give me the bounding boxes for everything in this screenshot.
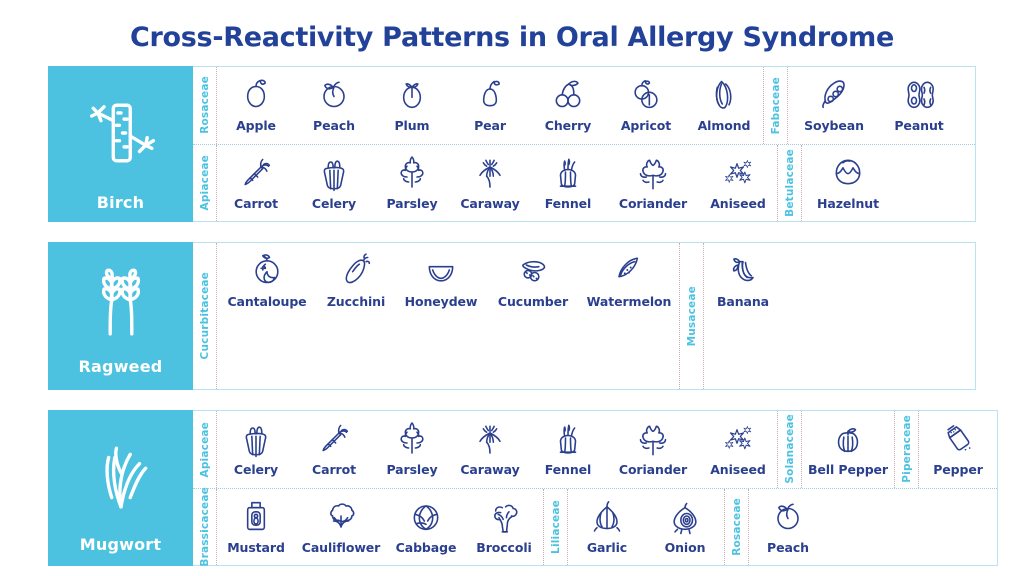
family-group-apiaceae: ApiaceaeCeleryCarrotParsleyCarawayFennel…	[193, 411, 777, 488]
fennel-icon	[548, 151, 588, 193]
caraway-icon	[470, 151, 510, 193]
cucumber-icon	[513, 249, 553, 291]
food-item[interactable]: Carrot	[217, 151, 295, 211]
food-item-label: Fennel	[545, 196, 591, 211]
family-group-apiaceae: ApiaceaeCarrotCeleryParsleyCarawayFennel…	[193, 145, 777, 222]
food-item-label: Garlic	[587, 540, 627, 555]
food-item-label: Aniseed	[710, 462, 766, 477]
section-ragweed: RagweedCucurbitaceaeCantaloupeZucchiniHo…	[48, 242, 976, 390]
food-item-label: Apricot	[621, 118, 671, 133]
food-item[interactable]: Parsley	[373, 417, 451, 477]
food-item-label: Fennel	[545, 462, 591, 477]
food-item-label: Hazelnut	[817, 196, 879, 211]
family-label: Apiaceae	[193, 145, 217, 222]
birch-tree-icon	[48, 66, 193, 193]
family-group-brassicaceae: BrassicaceaeMustardCauliflowerCabbageBro…	[193, 489, 543, 566]
row-filler	[958, 67, 975, 144]
food-grid: CucurbitaceaeCantaloupeZucchiniHoneydewC…	[193, 242, 976, 390]
parsley-icon	[392, 417, 432, 459]
food-item[interactable]: Onion	[646, 495, 724, 555]
food-item-list: CantaloupeZucchiniHoneydewCucumberWaterm…	[217, 243, 679, 389]
apricot-icon	[626, 73, 666, 115]
food-item[interactable]: Caraway	[451, 417, 529, 477]
cauliflower-icon	[321, 495, 361, 537]
food-grid: ApiaceaeCeleryCarrotParsleyCarawayFennel…	[193, 410, 998, 566]
food-item-list: ApplePeachPlumPearCherryApricotAlmond	[217, 67, 763, 144]
food-item[interactable]: Hazelnut	[802, 151, 894, 211]
food-item[interactable]: Watermelon	[579, 249, 679, 309]
food-item-label: Peanut	[894, 118, 943, 133]
page-title: Cross-Reactivity Patterns in Oral Allerg…	[0, 22, 1024, 53]
food-item-label: Onion	[665, 540, 706, 555]
food-item[interactable]: Banana	[704, 249, 782, 309]
food-item-label: Almond	[698, 118, 751, 133]
zucchini-icon	[336, 249, 376, 291]
allergen-name: Ragweed	[79, 357, 163, 390]
food-item-list: Pepper	[919, 411, 997, 488]
food-item[interactable]: Aniseed	[699, 151, 777, 211]
mugwort-plant-icon	[48, 410, 193, 535]
food-item-label: Watermelon	[587, 294, 672, 309]
food-item[interactable]: Celery	[295, 151, 373, 211]
food-item[interactable]: Parsley	[373, 151, 451, 211]
food-item-label: Caraway	[460, 196, 519, 211]
family-label: Brassicaceae	[193, 489, 217, 566]
food-item-label: Carrot	[312, 462, 356, 477]
family-label: Cucurbitaceae	[193, 243, 217, 389]
food-item-label: Broccoli	[476, 540, 531, 555]
section-mugwort: MugwortApiaceaeCeleryCarrotParsleyCarawa…	[48, 410, 976, 566]
watermelon-icon	[609, 249, 649, 291]
soybean-icon	[814, 73, 854, 115]
food-item-label: Cabbage	[396, 540, 457, 555]
section-birch: BirchRosaceaeApplePeachPlumPearCherryApr…	[48, 66, 976, 222]
family-group-solanaceae: SolanaceaeBell Pepper	[777, 411, 894, 488]
food-item-label: Peach	[313, 118, 355, 133]
food-item-label: Pear	[474, 118, 506, 133]
caraway-icon	[470, 417, 510, 459]
row-filler	[782, 243, 975, 389]
food-item[interactable]: Apricot	[607, 73, 685, 133]
family-group-piperaceae: PiperaceaePepper	[894, 411, 997, 488]
ragweed-plant-icon	[48, 242, 193, 357]
row-filler	[827, 489, 997, 566]
onion-icon	[665, 495, 705, 537]
food-item[interactable]: Bell Pepper	[802, 417, 894, 477]
family-label: Liliaceae	[544, 489, 568, 566]
allergen-name: Mugwort	[80, 535, 161, 566]
plum-icon	[392, 73, 432, 115]
family-label: Rosaceae	[193, 67, 217, 144]
food-item-label: Cherry	[545, 118, 591, 133]
fennel-icon	[548, 417, 588, 459]
honeydew-icon	[421, 249, 461, 291]
row-filler	[894, 145, 975, 222]
food-item[interactable]: Coriander	[607, 151, 699, 211]
food-item-label: Soybean	[804, 118, 864, 133]
apple-icon	[236, 73, 276, 115]
peanut-icon	[899, 73, 939, 115]
allergen-name: Birch	[97, 193, 144, 222]
cantaloupe-icon	[247, 249, 287, 291]
food-item[interactable]: Pear	[451, 73, 529, 133]
family-label: Fabaceae	[764, 67, 788, 144]
food-item-label: Bell Pepper	[808, 462, 888, 477]
food-item-label: Parsley	[386, 196, 437, 211]
family-group-musaceae: MusaceaeBanana	[679, 243, 782, 389]
food-item-label: Plum	[395, 118, 430, 133]
food-item-label: Parsley	[386, 462, 437, 477]
family-group-fabaceae: FabaceaeSoybeanPeanut	[763, 67, 958, 144]
parsley-icon	[392, 151, 432, 193]
food-item-label: Mustard	[227, 540, 285, 555]
hazelnut-icon	[828, 151, 868, 193]
food-item[interactable]: Peanut	[880, 73, 958, 133]
food-item-list: SoybeanPeanut	[788, 67, 958, 144]
food-item-label: Celery	[312, 196, 356, 211]
family-label: Rosaceae	[725, 489, 749, 566]
food-item-list: GarlicOnion	[568, 489, 724, 566]
food-item[interactable]: Fennel	[529, 417, 607, 477]
pear-icon	[470, 73, 510, 115]
allergen-panel-ragweed: Ragweed	[48, 242, 193, 390]
aniseed-icon	[718, 417, 758, 459]
food-item[interactable]: Cantaloupe	[217, 249, 317, 309]
food-row: ApiaceaeCeleryCarrotParsleyCarawayFennel…	[193, 411, 997, 488]
food-item-label: Carrot	[234, 196, 278, 211]
family-group-liliaceae: LiliaceaeGarlicOnion	[543, 489, 724, 566]
food-item-label: Zucchini	[327, 294, 385, 309]
family-group-cucurbitaceae: CucurbitaceaeCantaloupeZucchiniHoneydewC…	[193, 243, 679, 389]
family-label: Solanaceae	[778, 411, 802, 488]
food-item[interactable]: Coriander	[607, 417, 699, 477]
peach-icon	[314, 73, 354, 115]
food-item[interactable]: Honeydew	[395, 249, 487, 309]
food-item-label: Caraway	[460, 462, 519, 477]
coriander-icon	[633, 151, 673, 193]
food-item[interactable]: Cherry	[529, 73, 607, 133]
family-label: Betulaceae	[778, 145, 802, 222]
food-item[interactable]: Zucchini	[317, 249, 395, 309]
peach-icon	[768, 495, 808, 537]
food-item-label: Aniseed	[710, 196, 766, 211]
food-row: BrassicaceaeMustardCauliflowerCabbageBro…	[193, 488, 997, 566]
food-item[interactable]: Mustard	[217, 495, 295, 555]
food-item[interactable]: Caraway	[451, 151, 529, 211]
cherry-icon	[548, 73, 588, 115]
food-item-label: Coriander	[619, 462, 687, 477]
food-item-list: CarrotCeleryParsleyCarawayFennelCoriande…	[217, 145, 777, 222]
food-row: RosaceaeApplePeachPlumPearCherryApricotA…	[193, 67, 975, 144]
food-item[interactable]: Celery	[217, 417, 295, 477]
food-item-list: Hazelnut	[802, 145, 894, 222]
celery-icon	[314, 151, 354, 193]
food-item-label: Apple	[236, 118, 276, 133]
carrot-icon	[314, 417, 354, 459]
food-item-label: Coriander	[619, 196, 687, 211]
infographic-root: Cross-Reactivity Patterns in Oral Allerg…	[0, 0, 1024, 576]
coriander-icon	[633, 417, 673, 459]
food-item-list: MustardCauliflowerCabbageBroccoli	[217, 489, 543, 566]
food-item-label: Banana	[717, 294, 769, 309]
garlic-icon	[587, 495, 627, 537]
food-item[interactable]: Plum	[373, 73, 451, 133]
food-item[interactable]: Aniseed	[699, 417, 777, 477]
almond-icon	[704, 73, 744, 115]
food-item[interactable]: Peach	[295, 73, 373, 133]
food-row: ApiaceaeCarrotCeleryParsleyCarawayFennel…	[193, 144, 975, 222]
family-group-rosaceae: RosaceaePeach	[724, 489, 827, 566]
allergen-panel-mugwort: Mugwort	[48, 410, 193, 566]
food-item[interactable]: Cabbage	[387, 495, 465, 555]
food-item[interactable]: Garlic	[568, 495, 646, 555]
food-item-list: Banana	[704, 243, 782, 389]
pepper-shaker-icon	[938, 417, 978, 459]
food-item[interactable]: Cauliflower	[295, 495, 387, 555]
food-item[interactable]: Fennel	[529, 151, 607, 211]
food-item-label: Pepper	[933, 462, 983, 477]
food-item-label: Cauliflower	[302, 540, 380, 555]
food-item[interactable]: Apple	[217, 73, 295, 133]
family-group-rosaceae: RosaceaeApplePeachPlumPearCherryApricotA…	[193, 67, 763, 144]
family-label: Musaceae	[680, 243, 704, 389]
food-item-list: CeleryCarrotParsleyCarawayFennelCoriande…	[217, 411, 777, 488]
food-item-list: Bell Pepper	[802, 411, 894, 488]
aniseed-icon	[718, 151, 758, 193]
food-grid: RosaceaeApplePeachPlumPearCherryApricotA…	[193, 66, 976, 222]
food-item-label: Celery	[234, 462, 278, 477]
allergen-panel-birch: Birch	[48, 66, 193, 222]
food-item[interactable]: Soybean	[788, 73, 880, 133]
food-item-label: Peach	[767, 540, 809, 555]
food-item-label: Cantaloupe	[227, 294, 306, 309]
food-item[interactable]: Cucumber	[487, 249, 579, 309]
food-item[interactable]: Almond	[685, 73, 763, 133]
mustard-bottle-icon	[236, 495, 276, 537]
carrot-icon	[236, 151, 276, 193]
food-item[interactable]: Peach	[749, 495, 827, 555]
celery-icon	[236, 417, 276, 459]
family-label: Piperaceae	[895, 411, 919, 488]
banana-icon	[723, 249, 763, 291]
food-item-list: Peach	[749, 489, 827, 566]
broccoli-icon	[484, 495, 524, 537]
cabbage-icon	[406, 495, 446, 537]
family-group-betulaceae: BetulaceaeHazelnut	[777, 145, 894, 222]
food-item[interactable]: Carrot	[295, 417, 373, 477]
food-item-label: Cucumber	[498, 294, 568, 309]
food-item-label: Honeydew	[405, 294, 478, 309]
bell-pepper-icon	[828, 417, 868, 459]
food-item[interactable]: Pepper	[919, 417, 997, 477]
family-label: Apiaceae	[193, 411, 217, 488]
food-item[interactable]: Broccoli	[465, 495, 543, 555]
food-row: CucurbitaceaeCantaloupeZucchiniHoneydewC…	[193, 243, 975, 389]
